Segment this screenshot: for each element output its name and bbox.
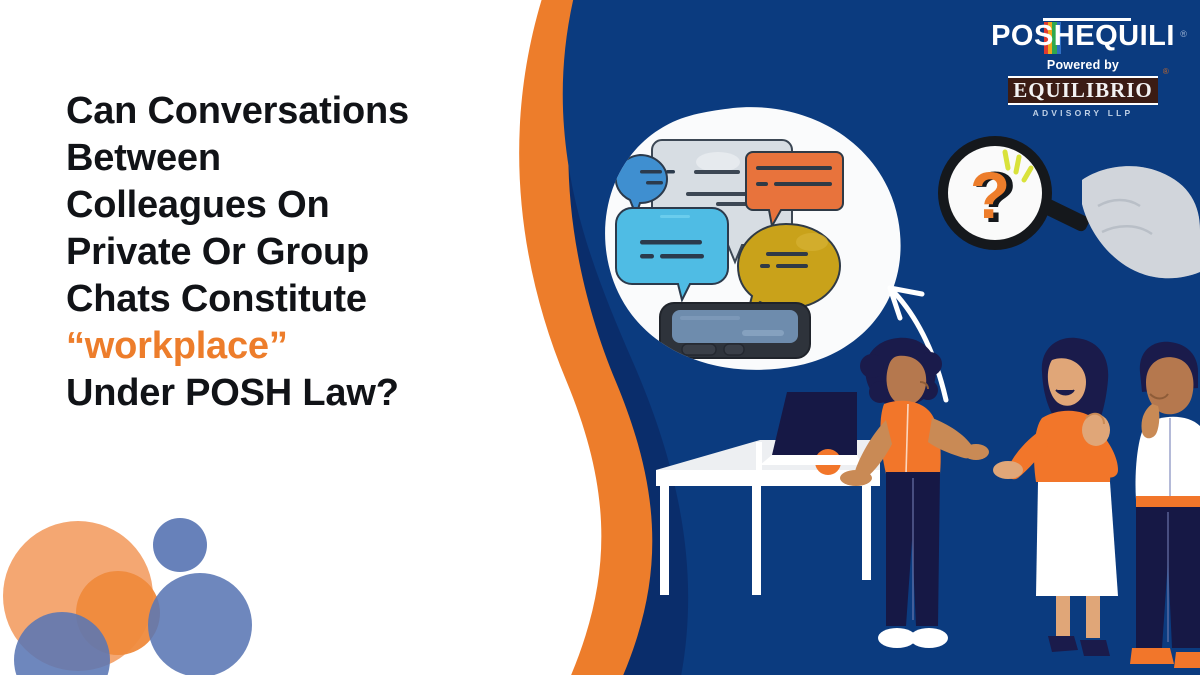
circle-blue-medium xyxy=(153,518,207,572)
circle-blue-large xyxy=(148,573,252,675)
parent-company-tagline: ADVISORY LLP xyxy=(988,108,1178,118)
brand-logo[interactable]: POSHEQUILI ® Powered by EQUILIBRIO ® ADV… xyxy=(988,16,1178,118)
question-mark-glyph: ? xyxy=(970,158,1010,232)
smartphone xyxy=(660,303,810,358)
logo-top-rule xyxy=(1043,18,1131,21)
headline-line-4: Private Or Group xyxy=(66,231,369,273)
decorative-circles xyxy=(0,435,320,675)
parent-company-box: EQUILIBRIO xyxy=(1008,76,1158,105)
headline-line-3: Colleagues On xyxy=(66,184,329,226)
headline-line-5: Chats Constitute xyxy=(66,278,367,320)
headline-line-2: Between xyxy=(66,137,221,179)
headline-line-1: Can Conversations xyxy=(66,90,409,132)
parent-company-name: EQUILIBRIO xyxy=(1013,79,1153,101)
logo-wordmark: POSHEQUILI ® xyxy=(991,16,1175,56)
headline-line-6: Under POSH Law? xyxy=(66,372,399,414)
powered-by-label: Powered by xyxy=(988,58,1178,72)
parent-company-logo: EQUILIBRIO ® xyxy=(1008,76,1158,105)
headline-accent-workplace: “workplace” xyxy=(66,325,288,367)
logo-wordmark-text: POSHEQUILI xyxy=(991,20,1175,52)
poster-canvas: ? ? xyxy=(0,0,1200,675)
parent-registered-trademark-icon: ® xyxy=(1163,67,1169,76)
page-title: Can Conversations Between Colleagues On … xyxy=(66,88,506,417)
registered-trademark-icon: ® xyxy=(1180,14,1187,54)
